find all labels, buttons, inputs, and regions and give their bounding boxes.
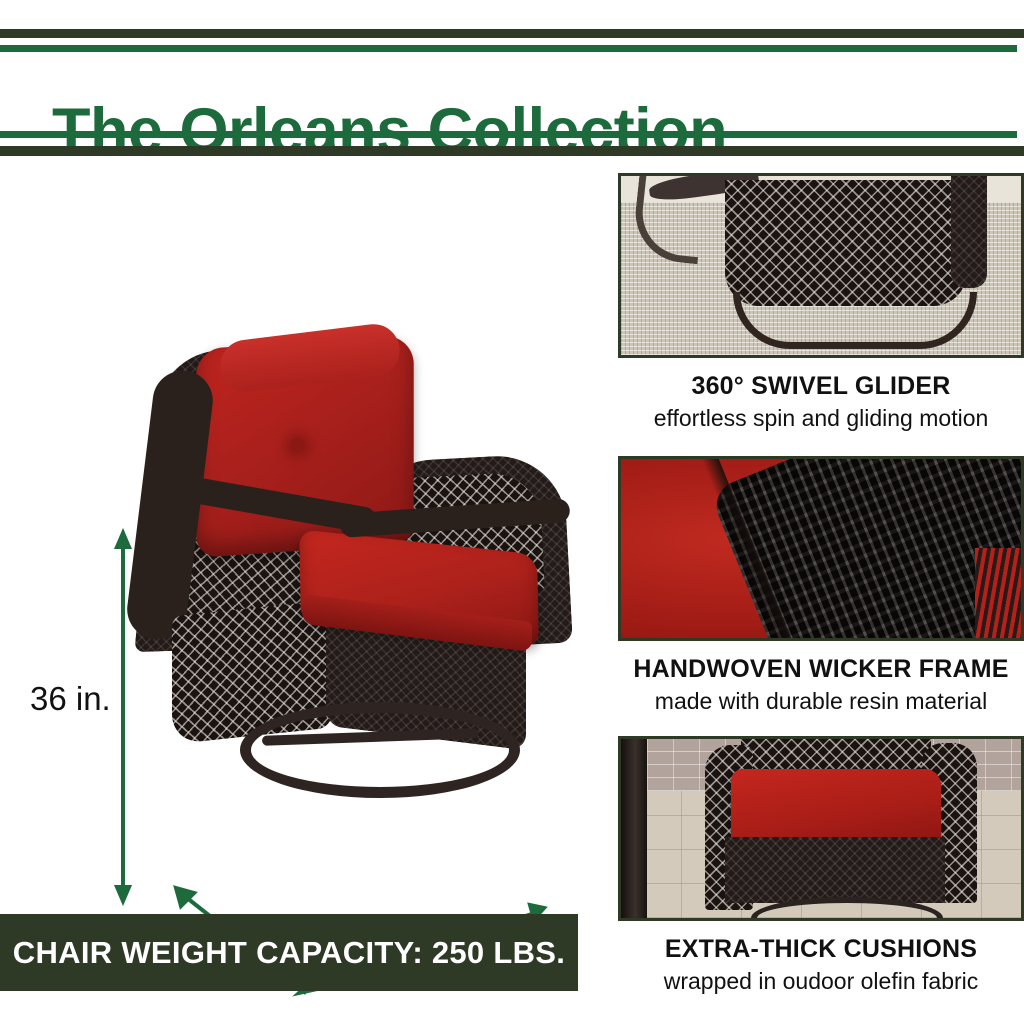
- height-arrow-bottom: [117, 887, 129, 901]
- wicker-mesh-shell: [725, 180, 967, 306]
- height-dimension-label: 36 in.: [30, 680, 111, 717]
- swivel-base-ring: [733, 292, 977, 349]
- cushion-tuft-button: [290, 438, 305, 453]
- cushion-photo: [618, 736, 1024, 921]
- feature-subtitle: made with durable resin material: [618, 688, 1024, 715]
- thick-seat-cushion: [731, 769, 941, 847]
- feature-subtitle: effortless spin and gliding motion: [618, 405, 1024, 432]
- header-upper-rule: [0, 45, 1017, 52]
- weight-capacity-banner: CHAIR WEIGHT CAPACITY: 250 LBS.: [0, 914, 578, 991]
- wicker-frame-photo: [618, 456, 1024, 641]
- wicker-shell-right: [951, 176, 987, 288]
- depth-arrow-outer: [176, 888, 194, 906]
- feature-title: HANDWOVEN WICKER FRAME: [618, 655, 1024, 684]
- weight-capacity-text: CHAIR WEIGHT CAPACITY: 250 LBS.: [13, 935, 565, 971]
- infographic-page: The Orleans Collection: [0, 0, 1024, 1024]
- feature-panel-cushions: EXTRA-THICK CUSHIONS wrapped in oudoor o…: [618, 736, 1024, 995]
- chair-skirt-weave: [725, 837, 945, 903]
- product-image-area: 36 in. 34 in. 31 in.: [0, 165, 600, 905]
- red-weave-accent: [975, 548, 1021, 638]
- feature-title: 360° SWIVEL GLIDER: [618, 372, 1024, 401]
- chair-product-photo: [130, 340, 550, 785]
- header-banner: The Orleans Collection: [0, 0, 1024, 160]
- header-top-band: [0, 29, 1024, 38]
- swivel-glider-photo: [618, 173, 1024, 358]
- feature-panel-list: 360° SWIVEL GLIDER effortless spin and g…: [618, 173, 1024, 1018]
- feature-title: EXTRA-THICK CUSHIONS: [618, 935, 1024, 964]
- chair-swivel-base-ring: [240, 702, 520, 798]
- header-bottom-band: [0, 146, 1024, 156]
- feature-panel-swivel-glider: 360° SWIVEL GLIDER effortless spin and g…: [618, 173, 1024, 432]
- feature-subtitle: wrapped in oudoor olefin fabric: [618, 968, 1024, 995]
- height-arrow-top: [117, 533, 129, 547]
- feature-panel-wicker-frame: HANDWOVEN WICKER FRAME made with durable…: [618, 456, 1024, 715]
- dark-post: [621, 739, 647, 918]
- header-lower-rule: [0, 131, 1017, 138]
